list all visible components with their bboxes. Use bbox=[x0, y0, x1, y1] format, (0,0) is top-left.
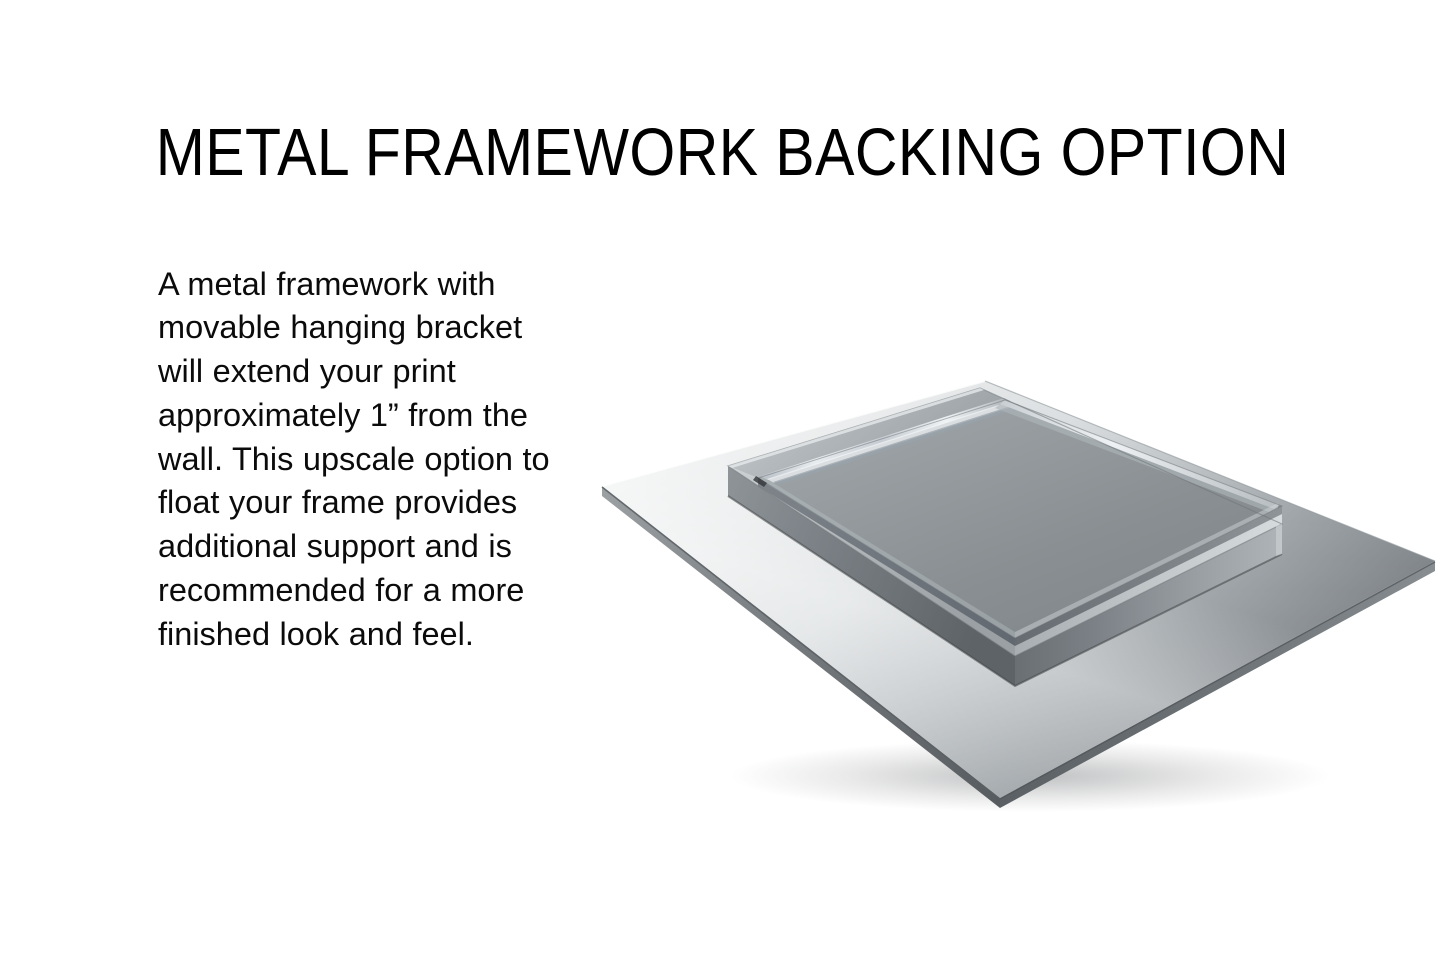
frame-right-corner-glint bbox=[1276, 524, 1282, 556]
body-paragraph: A metal framework with movable hanging b… bbox=[158, 263, 550, 657]
metal-framework-backing-photo bbox=[560, 346, 1445, 826]
page-title: METAL FRAMEWORK BACKING OPTION bbox=[87, 117, 1359, 189]
slide-canvas: METAL FRAMEWORK BACKING OPTION A metal f… bbox=[0, 0, 1445, 963]
metal-framework-illustration bbox=[560, 346, 1445, 826]
